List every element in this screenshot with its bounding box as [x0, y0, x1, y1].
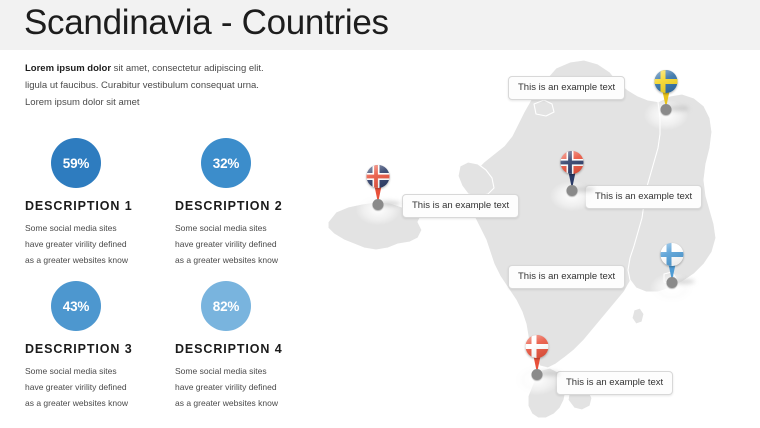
map-pin-sweden[interactable]	[651, 70, 681, 116]
stat-body-4-line1: Some social media sites	[175, 366, 267, 376]
slide-canvas: Scandinavia - Countries Lorem ipsum dolo…	[0, 0, 760, 428]
intro-lead: Lorem ipsum dolor	[25, 63, 111, 74]
stat-heading-2: DESCRIPTION 2	[175, 199, 325, 213]
page-title: Scandinavia - Countries	[24, 3, 389, 43]
pin-gloss-finland	[661, 243, 684, 266]
stat-body-4-line2: have greater virility defined	[175, 382, 277, 392]
pin-gloss-iceland	[367, 165, 390, 188]
stat-item-2: 32% DESCRIPTION 2 Some social media site…	[175, 138, 325, 268]
flag-icon-norway	[561, 151, 584, 174]
pin-gloss-sweden	[655, 70, 678, 93]
pin-base-iceland	[373, 199, 384, 210]
stat-circle-3: 43%	[51, 281, 101, 331]
intro-line3: Lorem ipsum dolor sit amet	[25, 97, 140, 108]
pin-base-denmark	[532, 369, 543, 380]
land-gotland	[632, 308, 644, 324]
stat-body-3: Some social media sites have greater vir…	[25, 363, 175, 411]
pin-base-sweden	[661, 104, 672, 115]
stat-heading-1: DESCRIPTION 1	[25, 199, 175, 213]
pin-base-norway	[567, 185, 578, 196]
flag-icon-sweden	[655, 70, 678, 93]
map-pin-finland[interactable]	[657, 243, 687, 289]
stat-body-2-line3: as a greater websites know	[175, 255, 278, 265]
intro-paragraph: Lorem ipsum dolor sit amet, consectetur …	[25, 60, 295, 111]
stat-body-1-line1: Some social media sites	[25, 223, 117, 233]
stat-body-4-line3: as a greater websites know	[175, 398, 278, 408]
stat-heading-4: DESCRIPTION 4	[175, 342, 325, 356]
map-pin-norway[interactable]	[557, 151, 587, 197]
stat-body-3-line2: have greater virility defined	[25, 382, 127, 392]
scandinavia-map: This is an example text This is an examp…	[318, 52, 760, 428]
map-pin-iceland[interactable]	[363, 165, 393, 211]
stat-circle-4: 82%	[201, 281, 251, 331]
stat-body-3-line3: as a greater websites know	[25, 398, 128, 408]
stat-item-4: 82% DESCRIPTION 4 Some social media site…	[175, 281, 325, 411]
stat-body-1: Some social media sites have greater vir…	[25, 220, 175, 268]
stat-item-3: 43% DESCRIPTION 3 Some social media site…	[25, 281, 175, 411]
pin-gloss-denmark	[526, 335, 549, 358]
callout-sweden[interactable]: This is an example text	[508, 76, 625, 100]
stat-body-2-line1: Some social media sites	[175, 223, 267, 233]
stats-grid: 59% DESCRIPTION 1 Some social media site…	[25, 138, 325, 424]
stat-circle-2: 32%	[201, 138, 251, 188]
stat-body-4: Some social media sites have greater vir…	[175, 363, 325, 411]
stat-circle-1: 59%	[51, 138, 101, 188]
callout-denmark[interactable]: This is an example text	[556, 371, 673, 395]
flag-icon-finland	[661, 243, 684, 266]
stat-body-2-line2: have greater virility defined	[175, 239, 277, 249]
stat-item-1: 59% DESCRIPTION 1 Some social media site…	[25, 138, 175, 268]
pin-base-finland	[667, 277, 678, 288]
stat-body-3-line1: Some social media sites	[25, 366, 117, 376]
flag-icon-denmark	[526, 335, 549, 358]
flag-icon-iceland	[367, 165, 390, 188]
callout-norway[interactable]: This is an example text	[585, 185, 702, 209]
callout-iceland[interactable]: This is an example text	[402, 194, 519, 218]
intro-line1-rest: sit amet, consectetur adipiscing elit.	[111, 63, 264, 74]
pin-gloss-norway	[561, 151, 584, 174]
stat-body-2: Some social media sites have greater vir…	[175, 220, 325, 268]
intro-line2: ligula ut faucibus. Curabitur vestibulum…	[25, 80, 259, 91]
stat-body-1-line2: have greater virility defined	[25, 239, 127, 249]
map-pin-denmark[interactable]	[522, 335, 552, 381]
stat-heading-3: DESCRIPTION 3	[25, 342, 175, 356]
stat-body-1-line3: as a greater websites know	[25, 255, 128, 265]
callout-finland[interactable]: This is an example text	[508, 265, 625, 289]
